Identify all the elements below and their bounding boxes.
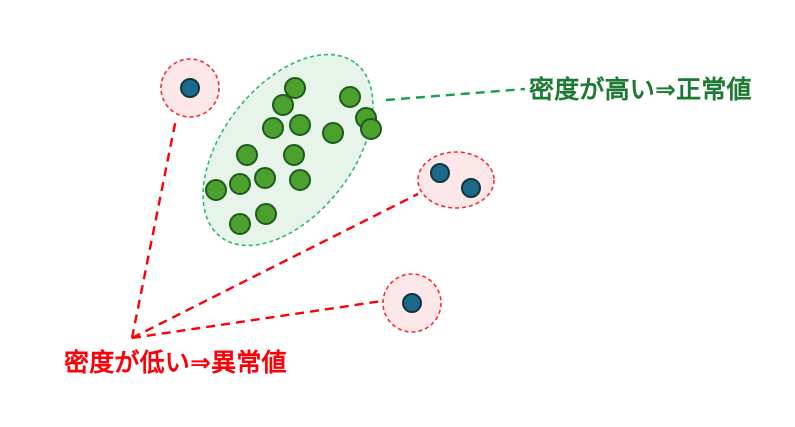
inlier-point [237,145,257,165]
inlier-point [284,145,304,165]
inlier-point [340,87,360,107]
outlier-point [431,164,449,182]
normal-annotation-label: 密度が高い⇒正常値 [529,70,752,106]
inlier-point [230,214,250,234]
inlier-point [361,119,381,139]
outlier-point [462,179,480,197]
outlier-point [403,294,421,312]
inlier-point [323,123,343,143]
anomaly-leader-line-3 [132,301,382,338]
anomaly-leader-line-1 [132,119,176,338]
inlier-point [263,118,283,138]
inlier-point [273,95,293,115]
inlier-point [206,180,226,200]
inlier-point [256,204,276,224]
inlier-point [255,168,275,188]
inlier-point [290,170,310,190]
inlier-point [230,174,250,194]
outlier-halo-2 [418,152,494,208]
inlier-point [285,78,305,98]
anomaly-annotation-label: 密度が低い⇒異常値 [64,343,287,379]
normal-leader-line [386,89,525,100]
inlier-point [290,115,310,135]
figure-canvas: 密度が高い⇒正常値 密度が低い⇒異常値 [0,0,795,427]
outlier-point [181,79,199,97]
